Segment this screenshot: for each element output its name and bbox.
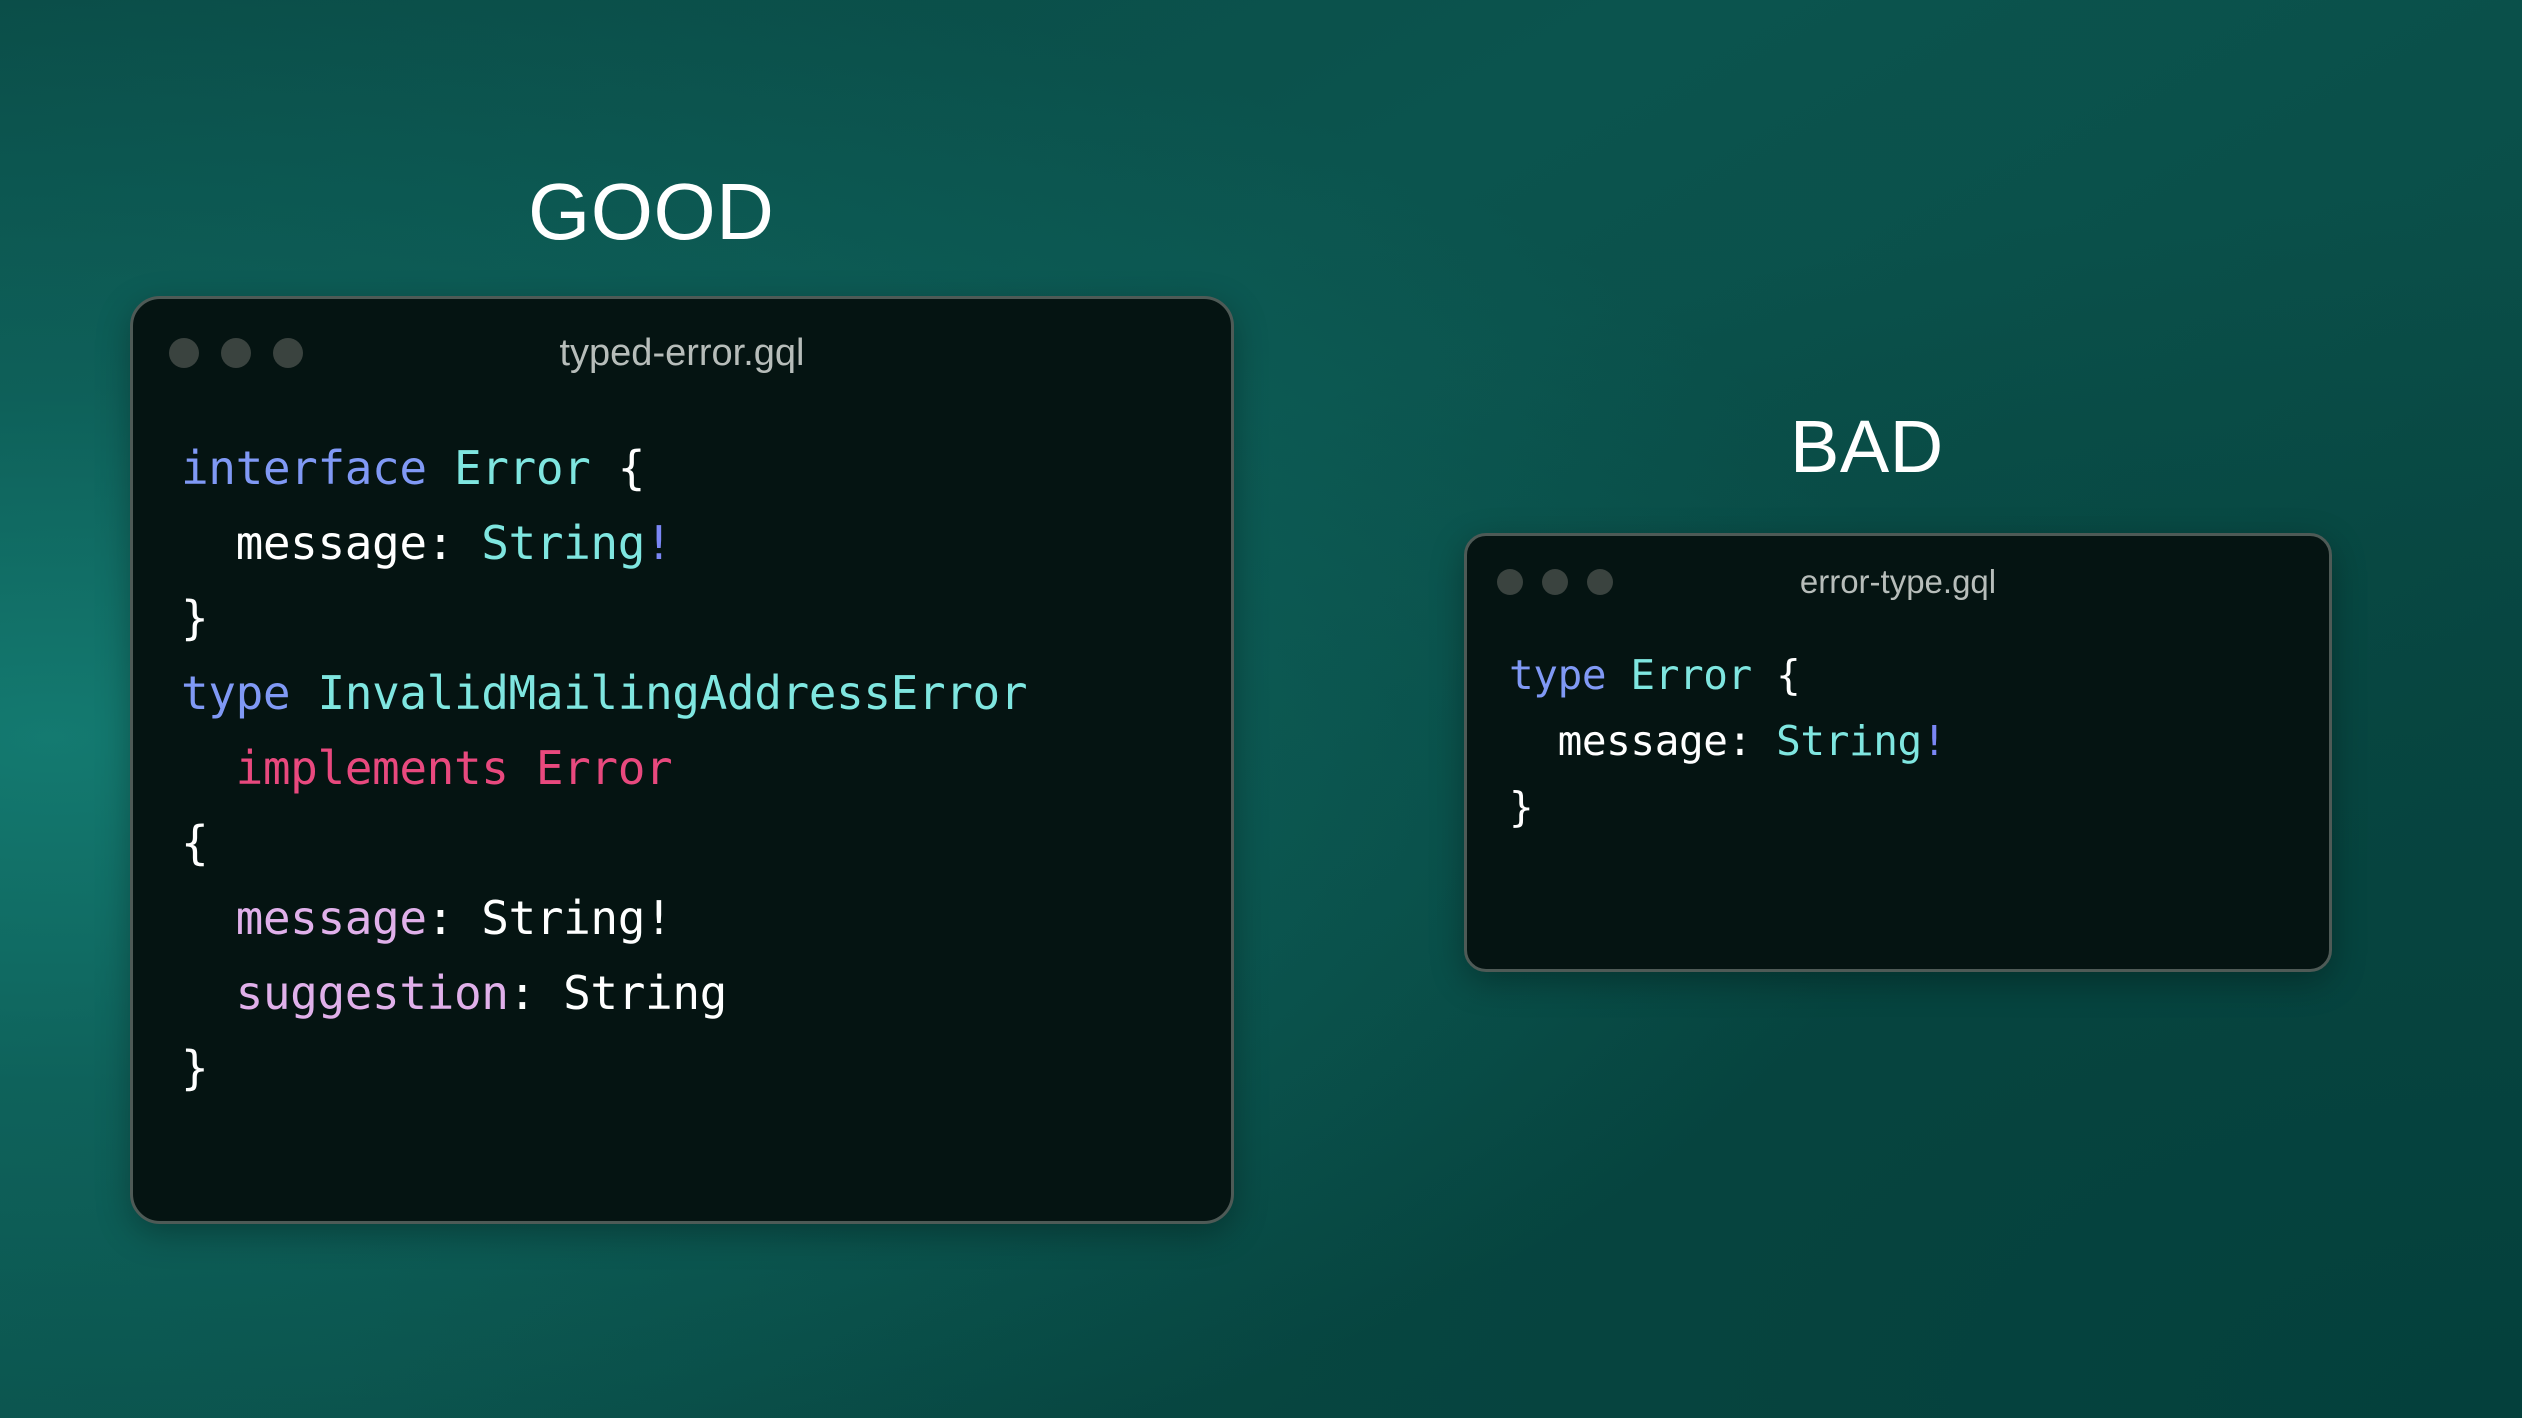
traffic-light-dot-minimize[interactable] xyxy=(1542,569,1568,595)
code-line: message: String! xyxy=(181,881,1231,956)
code-token: : String! xyxy=(427,891,673,945)
code-token: message xyxy=(1509,717,1728,765)
code-token: implements Error xyxy=(181,741,672,795)
code-token: : String xyxy=(509,966,727,1020)
code-window-good: typed-error.gql interface Error { messag… xyxy=(130,296,1234,1224)
code-line: } xyxy=(181,1031,1231,1106)
traffic-light-dot-close[interactable] xyxy=(169,338,199,368)
code-line: type InvalidMailingAddressError xyxy=(181,656,1231,731)
code-line: } xyxy=(181,581,1231,656)
code-token: } xyxy=(181,591,208,645)
code-token: { xyxy=(590,441,645,495)
bad-example-heading: BAD xyxy=(1790,410,1944,484)
traffic-light-dot-maximize[interactable] xyxy=(273,338,303,368)
traffic-light-dot-minimize[interactable] xyxy=(221,338,251,368)
code-token: Error xyxy=(1630,651,1751,699)
code-token: ! xyxy=(1922,717,1946,765)
code-block-bad: type Error { message: String!} xyxy=(1467,628,2329,840)
code-token: message xyxy=(181,891,427,945)
code-token: String xyxy=(481,516,645,570)
code-token: InvalidMailingAddressError xyxy=(317,666,1027,720)
traffic-lights-good xyxy=(169,338,303,368)
code-token: type xyxy=(181,666,317,720)
code-line: } xyxy=(1509,774,2329,840)
code-token: type xyxy=(1509,651,1630,699)
code-token: interface xyxy=(181,441,454,495)
slide-canvas: GOOD typed-error.gql interface Error { m… xyxy=(0,0,2522,1418)
traffic-light-dot-close[interactable] xyxy=(1497,569,1523,595)
code-token: suggestion xyxy=(181,966,509,1020)
code-token: { xyxy=(1752,651,1801,699)
code-line: message: String! xyxy=(181,506,1231,581)
good-example-heading: GOOD xyxy=(528,172,774,252)
code-token: Error xyxy=(454,441,590,495)
code-token: message xyxy=(181,516,427,570)
traffic-light-dot-maximize[interactable] xyxy=(1587,569,1613,595)
code-token: ! xyxy=(645,516,672,570)
code-token: String xyxy=(1776,717,1922,765)
code-line: implements Error xyxy=(181,731,1231,806)
traffic-lights-bad xyxy=(1497,569,1613,595)
code-line: interface Error { xyxy=(181,431,1231,506)
titlebar-bad: error-type.gql xyxy=(1467,536,2329,628)
titlebar-good: typed-error.gql xyxy=(133,299,1231,407)
code-window-bad: error-type.gql type Error { message: Str… xyxy=(1464,533,2332,972)
code-line: suggestion: String xyxy=(181,956,1231,1031)
code-token: : xyxy=(427,516,482,570)
code-line: message: String! xyxy=(1509,708,2329,774)
code-line: { xyxy=(181,806,1231,881)
code-token: } xyxy=(1509,783,1533,831)
code-token: } xyxy=(181,1041,208,1095)
code-token: : xyxy=(1728,717,1777,765)
code-token: { xyxy=(181,816,208,870)
code-block-good: interface Error { message: String!}type … xyxy=(133,407,1231,1106)
code-line: type Error { xyxy=(1509,642,2329,708)
